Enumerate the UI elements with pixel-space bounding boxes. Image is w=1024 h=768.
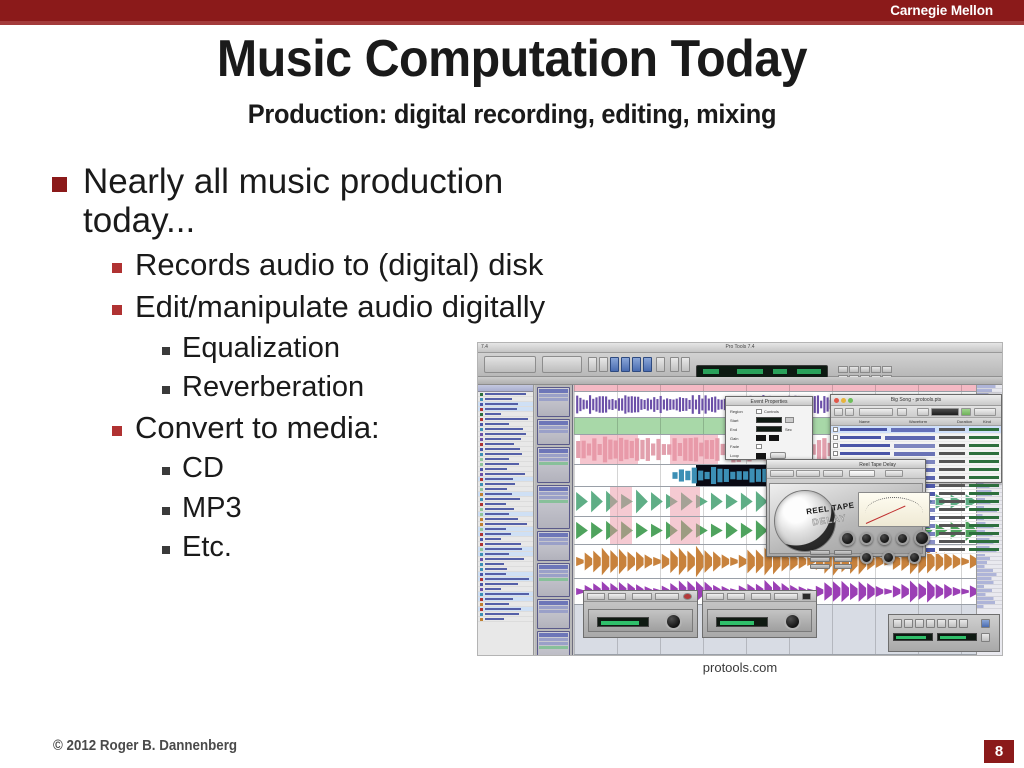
track-header[interactable] xyxy=(537,563,570,597)
bullet-square-icon xyxy=(162,507,170,515)
tool-scrub-button[interactable] xyxy=(621,357,630,372)
bullet-square-icon xyxy=(162,386,170,394)
list-item: Nearly all music production today... xyxy=(52,162,572,240)
row-kind xyxy=(969,516,999,519)
row-duration xyxy=(939,428,965,431)
row-kind xyxy=(969,484,999,487)
selected-region-block[interactable] xyxy=(670,435,718,464)
row-duration xyxy=(939,540,965,543)
switch-sync[interactable] xyxy=(810,550,830,555)
row-kind xyxy=(969,500,999,503)
protools-window-corner-label: 7.4 xyxy=(481,344,488,350)
switch-tape-speed[interactable] xyxy=(834,550,852,555)
knob-feedback[interactable] xyxy=(878,532,891,545)
browser-title-bar[interactable]: Big Song - protools.pts xyxy=(831,395,1001,406)
waveform-lane[interactable] xyxy=(574,385,1002,392)
page-number-badge: 8 xyxy=(984,740,1014,763)
protools-screenshot-image: 7.4 Pro Tools 7.4 xyxy=(477,342,1003,656)
zoom-icon xyxy=(848,398,853,403)
region-list-item[interactable] xyxy=(478,617,533,622)
row-duration xyxy=(939,444,965,447)
instrument-dial-left[interactable] xyxy=(665,613,682,630)
page-title: Music Computation Today xyxy=(36,33,988,85)
column-header-duration: Duration xyxy=(957,419,972,424)
copyright-notice: © 2012 Roger B. Dannenberg xyxy=(53,738,237,754)
list-item-label: Records audio to (digital) disk xyxy=(135,248,543,283)
region-list-panel[interactable] xyxy=(478,385,534,655)
row-duration xyxy=(939,476,965,479)
region-list-rows[interactable] xyxy=(478,392,533,622)
tool-mode-button[interactable] xyxy=(681,357,690,372)
knob-noise[interactable] xyxy=(882,551,895,564)
browser-toolbar[interactable] xyxy=(831,406,1001,418)
instrument-body-right[interactable] xyxy=(707,609,812,632)
track-header[interactable] xyxy=(537,447,570,483)
field-label: Start xyxy=(730,418,756,423)
list-item-label: CD xyxy=(182,452,224,484)
list-item-label: Equalization xyxy=(182,332,340,364)
list-item-label: Reverberation xyxy=(182,371,364,403)
table-row[interactable] xyxy=(831,426,1001,434)
row-duration xyxy=(939,548,965,551)
instrument-display-right xyxy=(716,617,768,627)
row-duration xyxy=(939,532,965,535)
field-value[interactable] xyxy=(769,435,779,441)
track-header[interactable] xyxy=(537,419,570,445)
selected-region-block[interactable] xyxy=(610,487,632,516)
tool-smart-button[interactable] xyxy=(643,357,652,372)
row-kind xyxy=(969,548,999,551)
row-kind xyxy=(969,428,999,431)
row-duration xyxy=(939,508,965,511)
knob-output[interactable] xyxy=(914,530,930,546)
tool-grabber-button[interactable] xyxy=(610,357,619,372)
header-underline xyxy=(0,21,1024,25)
row-duration xyxy=(939,500,965,503)
row-waveform xyxy=(894,452,935,456)
column-header-waveform: Waveform xyxy=(909,419,927,424)
instrument-body-left[interactable] xyxy=(588,609,693,632)
protools-window-title: Pro Tools 7.4 xyxy=(725,344,754,350)
page-subtitle: Production: digital recording, editing, … xyxy=(31,99,994,130)
row-kind xyxy=(969,460,999,463)
track-header[interactable] xyxy=(537,599,570,629)
row-waveform xyxy=(885,436,935,440)
row-name xyxy=(840,444,890,447)
row-waveform xyxy=(891,428,935,432)
instrument-dial-right[interactable] xyxy=(784,613,801,630)
instrument-header-right[interactable] xyxy=(703,591,816,602)
knob-saturation[interactable] xyxy=(908,551,921,564)
list-item-label: Nearly all music production today... xyxy=(83,162,572,240)
field-label: Gain xyxy=(730,436,756,441)
field-label: Loop xyxy=(730,453,756,458)
browser-window-title: Big Song - protools.pts xyxy=(891,397,942,403)
field-label: End xyxy=(730,427,756,432)
knob-delay[interactable] xyxy=(860,532,873,545)
row-kind xyxy=(969,436,999,439)
selected-region-block[interactable] xyxy=(610,517,632,544)
region-properties-dialog[interactable]: Event Properties Region Controls Start E… xyxy=(725,396,813,460)
browser-column-headers[interactable]: Name Waveform Duration Kind xyxy=(831,418,1001,426)
row-kind xyxy=(969,532,999,535)
track-header[interactable] xyxy=(537,531,570,561)
timeline-ruler[interactable] xyxy=(478,377,1002,385)
window-controls[interactable] xyxy=(834,398,853,403)
tool-fade-button[interactable] xyxy=(670,357,679,372)
list-item: Edit/manipulate audio digitally xyxy=(112,290,572,325)
table-row[interactable] xyxy=(831,450,1001,458)
toolbar-zoom-group[interactable] xyxy=(542,356,582,373)
row-name xyxy=(840,436,881,439)
table-row[interactable] xyxy=(831,434,1001,442)
track-header-stack[interactable] xyxy=(535,387,572,656)
field-unit: Sec xyxy=(785,427,792,432)
row-name xyxy=(840,452,890,455)
field-checkbox[interactable] xyxy=(756,444,762,449)
tool-trim-button[interactable] xyxy=(588,357,597,372)
tool-pencil-button[interactable] xyxy=(632,357,641,372)
field-label: Controls xyxy=(764,409,779,414)
plugin-title-bar[interactable]: Reel Tape Delay xyxy=(767,460,925,469)
row-checkbox[interactable] xyxy=(833,427,838,432)
header-bar xyxy=(0,0,1024,21)
bullet-square-icon xyxy=(112,426,122,436)
row-duration xyxy=(939,516,965,519)
row-name xyxy=(840,428,887,431)
vu-meter xyxy=(858,492,930,527)
bullet-square-icon xyxy=(52,177,67,192)
close-icon xyxy=(834,398,839,403)
bullet-square-icon xyxy=(162,546,170,554)
row-duration xyxy=(939,524,965,527)
protools-toolbar[interactable] xyxy=(478,353,1002,377)
organization-label: Carnegie Mellon xyxy=(890,3,993,18)
list-item-label: MP3 xyxy=(182,492,242,524)
column-header-name: Name xyxy=(859,419,870,424)
protools-title-bar: 7.4 Pro Tools 7.4 xyxy=(478,343,1002,353)
mixer-transport-strip[interactable] xyxy=(888,614,1000,652)
list-item-label: Convert to media: xyxy=(135,411,380,446)
knob-mix[interactable] xyxy=(860,551,873,564)
stepper-button[interactable] xyxy=(785,417,794,423)
list-item-label: Etc. xyxy=(182,531,232,563)
list-item: Records audio to (digital) disk xyxy=(112,248,572,283)
bullet-square-icon xyxy=(162,467,170,475)
track-headers-panel[interactable] xyxy=(535,385,573,655)
field-label: Region xyxy=(730,409,756,414)
row-duration xyxy=(939,468,965,471)
selected-region-block[interactable] xyxy=(670,517,700,544)
ok-button[interactable] xyxy=(770,452,786,459)
field-value[interactable] xyxy=(756,417,782,423)
region-list-header xyxy=(478,385,533,392)
row-kind xyxy=(969,524,999,527)
row-kind xyxy=(969,444,999,447)
selected-region-block[interactable] xyxy=(580,435,638,464)
field-label: Fade xyxy=(730,444,756,449)
reel-tape-delay-plugin[interactable]: Reel Tape Delay REEL TAPE DELAY xyxy=(766,459,926,557)
knob-input[interactable] xyxy=(840,531,855,546)
track-header[interactable] xyxy=(537,387,570,417)
bullet-square-icon xyxy=(162,347,170,355)
bullet-square-icon xyxy=(112,263,122,273)
row-duration xyxy=(939,436,965,439)
row-duration xyxy=(939,452,965,455)
toolbar-mode-group[interactable] xyxy=(484,356,536,373)
switch-mode[interactable] xyxy=(810,557,830,562)
switch-bypass[interactable] xyxy=(834,564,852,569)
tool-select-button[interactable] xyxy=(599,357,608,372)
switch-tape-type[interactable] xyxy=(834,557,852,562)
row-kind xyxy=(969,476,999,479)
list-item-label: Edit/manipulate audio digitally xyxy=(135,290,545,325)
row-waveform xyxy=(894,444,935,448)
track-header[interactable] xyxy=(537,631,570,656)
instrument-panel-right[interactable] xyxy=(702,590,817,638)
row-duration xyxy=(939,492,965,495)
column-header-kind: Kind xyxy=(983,419,991,424)
slide-root: Carnegie Mellon Music Computation Today … xyxy=(0,0,1024,768)
dialog-title: Event Properties xyxy=(751,399,788,405)
figure-caption: protools.com xyxy=(477,660,1003,675)
selected-region-block[interactable] xyxy=(670,487,700,516)
automation-row[interactable] xyxy=(977,605,1002,609)
track-header[interactable] xyxy=(537,485,570,529)
instrument-display-left xyxy=(597,617,649,627)
plugin-face: REEL TAPE DELAY xyxy=(769,483,923,554)
row-kind xyxy=(969,452,999,455)
row-duration xyxy=(939,484,965,487)
field-value[interactable] xyxy=(756,453,766,459)
instrument-panel-left[interactable] xyxy=(583,590,698,638)
field-value[interactable] xyxy=(756,426,782,432)
plugin-title: Reel Tape Delay xyxy=(859,462,896,468)
field-checkbox[interactable] xyxy=(756,409,762,414)
field-value[interactable] xyxy=(756,435,766,441)
knob-wow[interactable] xyxy=(896,532,909,545)
row-duration xyxy=(939,460,965,463)
plugin-toolbar[interactable] xyxy=(767,469,925,479)
row-checkbox[interactable] xyxy=(833,443,838,448)
row-checkbox[interactable] xyxy=(833,451,838,456)
dialog-title-bar[interactable]: Event Properties xyxy=(726,397,812,406)
row-kind xyxy=(969,540,999,543)
row-checkbox[interactable] xyxy=(833,435,838,440)
minimize-icon xyxy=(841,398,846,403)
bullet-square-icon xyxy=(112,305,122,315)
table-row[interactable] xyxy=(831,442,1001,450)
tool-zoomer-button[interactable] xyxy=(656,357,665,372)
instrument-header-left[interactable] xyxy=(584,591,697,602)
switch-reset[interactable] xyxy=(810,564,830,569)
row-kind xyxy=(969,508,999,511)
row-kind xyxy=(969,468,999,471)
row-kind xyxy=(969,492,999,495)
